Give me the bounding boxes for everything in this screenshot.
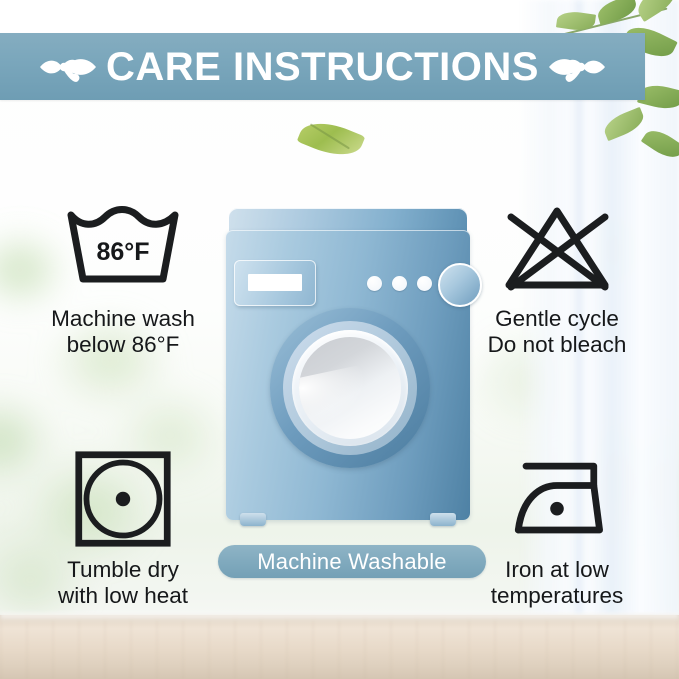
status-badge: Machine Washable bbox=[218, 545, 486, 578]
header-banner: CARE INSTRUCTIONS bbox=[0, 33, 645, 100]
care-item-tumble-dry: Tumble dry with low heat bbox=[18, 447, 228, 610]
care-item-iron-low: Iron at low temperatures bbox=[452, 447, 662, 610]
machine-body bbox=[226, 230, 470, 520]
wash-temperature-value: 86°F bbox=[63, 238, 183, 267]
wash-tub-icon: 86°F bbox=[18, 196, 228, 300]
care-label-tumble-dry: Tumble dry with low heat bbox=[18, 557, 228, 610]
iron-low-heat-icon bbox=[452, 447, 662, 551]
care-label-machine-wash: Machine wash below 86°F bbox=[18, 306, 228, 359]
care-label-do-not-bleach: Gentle cycle Do not bleach bbox=[452, 306, 662, 359]
washing-machine-illustration bbox=[226, 208, 470, 533]
machine-control-panel bbox=[234, 260, 466, 306]
machine-foot-right bbox=[430, 513, 456, 526]
fleur-de-lis-icon-left bbox=[36, 44, 100, 90]
detergent-drawer-slot bbox=[248, 274, 302, 291]
indicator-dot-2 bbox=[392, 276, 407, 291]
page-title: CARE INSTRUCTIONS bbox=[100, 47, 545, 87]
drum-door-ring-outer bbox=[283, 321, 417, 455]
tumble-dry-low-icon bbox=[18, 447, 228, 551]
do-not-bleach-triangle-icon bbox=[452, 196, 662, 300]
background-table-edge bbox=[0, 613, 679, 621]
control-knob bbox=[438, 263, 482, 307]
care-instructions-poster: CARE INSTRUCTIONS 86°F Machine wash bel bbox=[0, 0, 679, 679]
machine-foot-left bbox=[240, 513, 266, 526]
indicator-dot-1 bbox=[367, 276, 382, 291]
detergent-drawer bbox=[234, 260, 316, 306]
care-item-machine-wash: 86°F Machine wash below 86°F bbox=[18, 196, 228, 359]
status-badge-label: Machine Washable bbox=[257, 549, 446, 575]
drum-door-glass bbox=[299, 337, 401, 439]
drum-door-ring-inner bbox=[292, 330, 408, 446]
fleur-de-lis-icon-right bbox=[545, 44, 609, 90]
drum-glass-highlight bbox=[299, 353, 401, 439]
background-table-grain bbox=[0, 615, 679, 679]
indicator-dot-3 bbox=[417, 276, 432, 291]
drum-door bbox=[270, 308, 430, 468]
care-item-do-not-bleach: Gentle cycle Do not bleach bbox=[452, 196, 662, 359]
